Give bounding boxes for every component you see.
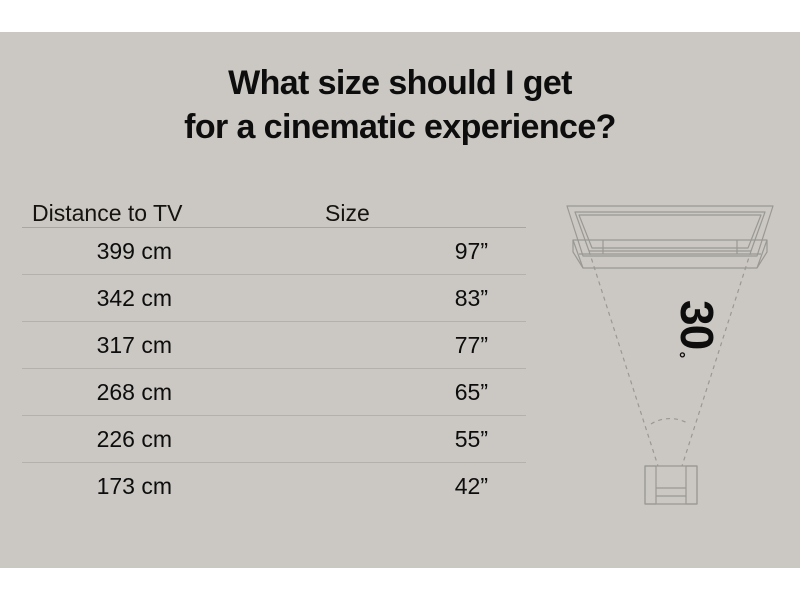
column-header-size: Size bbox=[300, 201, 526, 227]
sofa-icon bbox=[645, 466, 697, 504]
cell-size: 65” bbox=[300, 379, 526, 406]
tv-size-table: Distance to TV Size 399 cm 97” 342 cm 83… bbox=[22, 190, 526, 510]
table-row: 342 cm 83” bbox=[22, 275, 526, 322]
table-row: 173 cm 42” bbox=[22, 463, 526, 510]
table-row: 317 cm 77” bbox=[22, 322, 526, 369]
cell-distance: 317 cm bbox=[22, 332, 300, 359]
tv-screen-icon bbox=[567, 206, 773, 256]
table-row: 268 cm 65” bbox=[22, 369, 526, 416]
angle-arc bbox=[651, 419, 689, 424]
cell-size: 83” bbox=[300, 285, 526, 312]
table-row: 226 cm 55” bbox=[22, 416, 526, 463]
cell-size: 42” bbox=[300, 473, 526, 500]
page-title-line-2: for a cinematic experience? bbox=[0, 106, 800, 150]
viewing-angle-diagram bbox=[545, 190, 795, 510]
column-header-distance: Distance to TV bbox=[22, 201, 300, 227]
cell-distance: 342 cm bbox=[22, 285, 300, 312]
page-title: What size should I get for a cinematic e… bbox=[0, 62, 800, 149]
table-header-row: Distance to TV Size bbox=[22, 190, 526, 228]
table-row: 399 cm 97” bbox=[22, 228, 526, 275]
page-title-line-1: What size should I get bbox=[0, 62, 800, 106]
cell-size: 55” bbox=[300, 426, 526, 453]
cell-distance: 173 cm bbox=[22, 473, 300, 500]
cell-distance: 399 cm bbox=[22, 238, 300, 265]
cell-size: 77” bbox=[300, 332, 526, 359]
cell-distance: 268 cm bbox=[22, 379, 300, 406]
viewing-cone-lines bbox=[589, 251, 751, 466]
cell-size: 97” bbox=[300, 238, 526, 265]
screenshot-canvas: What size should I get for a cinematic e… bbox=[0, 0, 800, 600]
tv-console-icon bbox=[573, 240, 767, 268]
cell-distance: 226 cm bbox=[22, 426, 300, 453]
